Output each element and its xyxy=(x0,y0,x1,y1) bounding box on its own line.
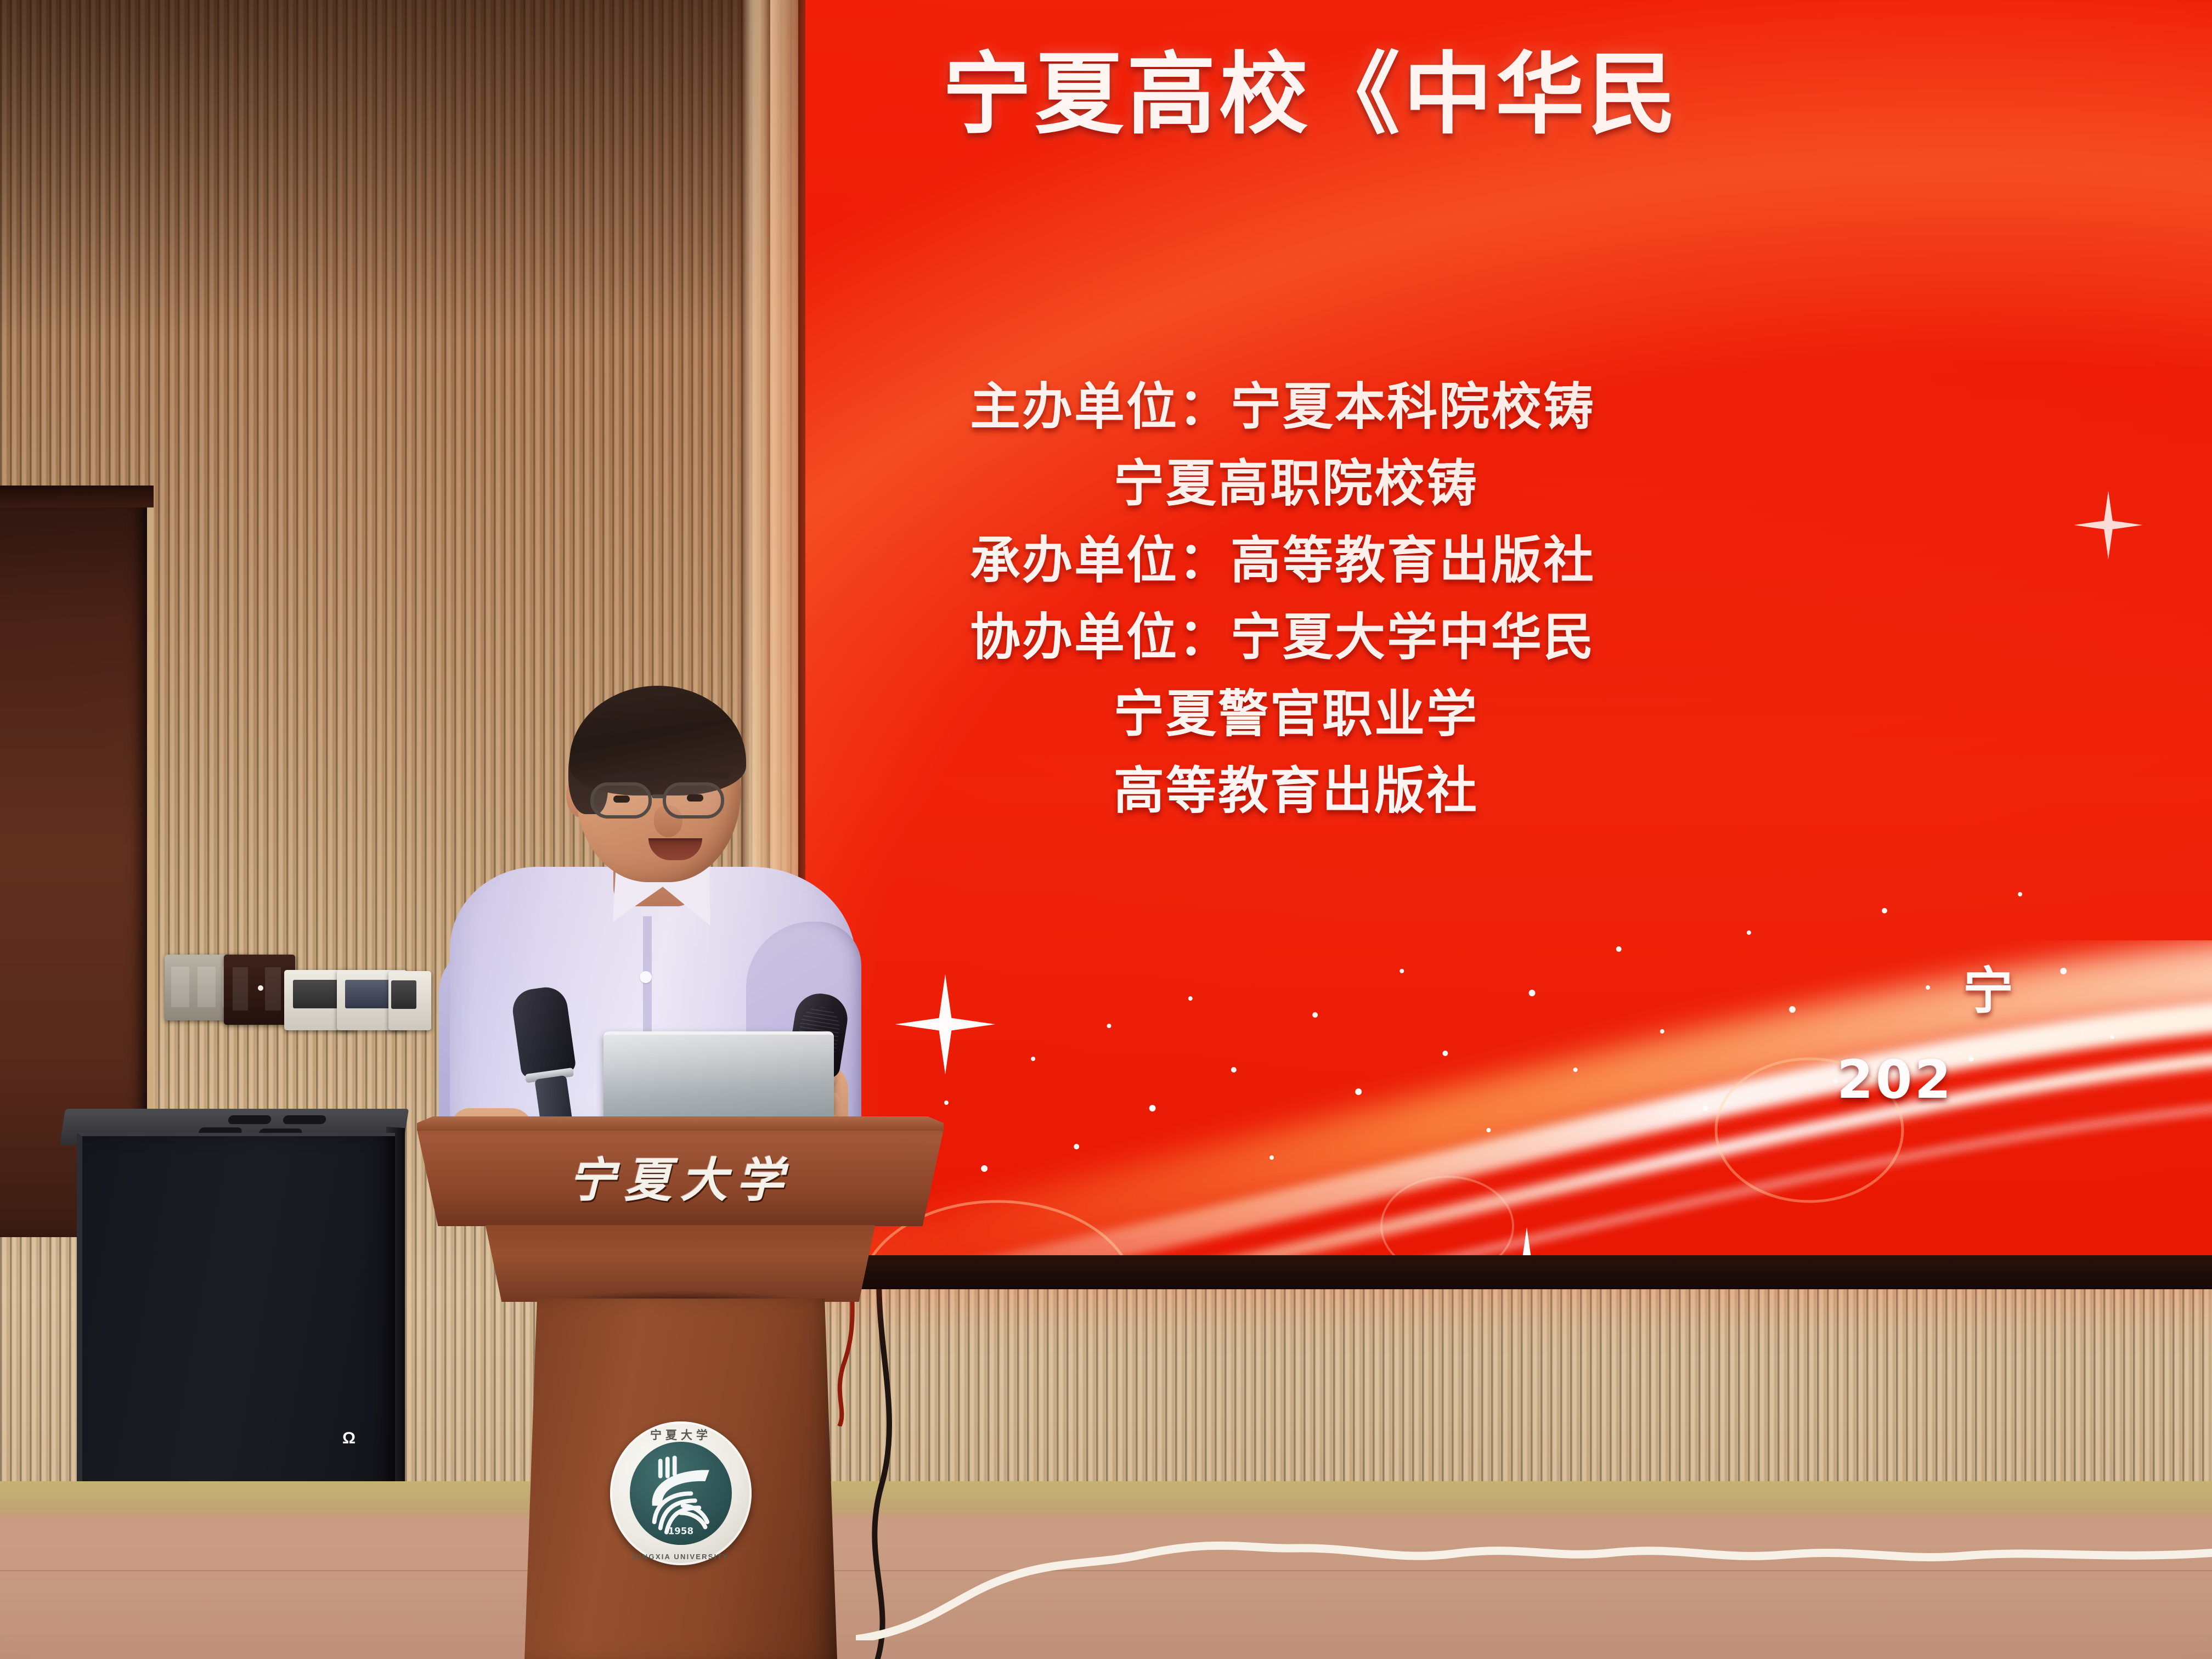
wall-outlet-plate-3[interactable] xyxy=(388,971,431,1030)
led-line-value: 高等教育出版社 xyxy=(1114,761,1479,820)
emblem-chinese-name: 宁夏大学 xyxy=(610,1426,752,1443)
star-burst-icon xyxy=(2073,489,2144,561)
led-line-value: 高等教育出版社 xyxy=(1231,531,1595,590)
lectern-podium: 宁夏大学 宁夏大学 1958 xyxy=(417,1116,944,1659)
emblem-calligraphy-mark: 1958 xyxy=(630,1442,732,1545)
podium-university-name: 宁夏大学 xyxy=(417,1142,944,1210)
eyeglasses xyxy=(590,782,733,822)
laptop-lid xyxy=(603,1031,834,1125)
led-line-cohost-3: 高等教育出版社 xyxy=(970,753,1595,830)
emblem-disc: 1958 xyxy=(630,1442,732,1545)
led-screen: 宁夏高校《中华民 主办单位：宁夏本科院校铸 宁夏高职院校铸 承办单位：高等教育出… xyxy=(805,0,2212,1278)
led-line-cohost-2: 宁夏警官职业学 xyxy=(970,676,1595,753)
led-line-host: 承办单位：高等教育出版社 xyxy=(970,522,1595,599)
speaker-brand-logo: Ω xyxy=(339,1429,359,1449)
led-line-label: 承办单位： xyxy=(970,531,1231,590)
led-line-value: 宁夏大学中华民 xyxy=(1231,608,1595,667)
laptop-computer[interactable] xyxy=(603,1031,834,1125)
emblem-english-name: NINGXIA UNIVERSITY xyxy=(610,1553,752,1561)
led-screen-bezel xyxy=(805,1255,2212,1289)
desk-microphone-head xyxy=(510,985,577,1079)
ningxia-university-emblem: 宁夏大学 1958 NINGXIA UNIVERSITY xyxy=(610,1421,752,1565)
led-screen-body: 主办单位：宁夏本科院校铸 宁夏高职院校铸 承办单位：高等教育出版社 协办单位：宁… xyxy=(970,369,1595,830)
led-signature-line: 宁 xyxy=(1963,950,2013,1023)
led-line-value: 宁夏警官职业学 xyxy=(1114,685,1479,743)
podium-neck xyxy=(477,1225,883,1302)
led-line-organizer-2: 宁夏高职院校铸 xyxy=(970,445,1595,522)
led-line-label: 主办单位： xyxy=(970,377,1231,436)
led-line-value: 宁夏本科院校铸 xyxy=(1231,377,1595,436)
photo-canvas: Ω xyxy=(0,0,2212,1659)
led-date-line: 202 xyxy=(1837,1049,1953,1110)
svg-text:1958: 1958 xyxy=(668,1525,694,1536)
floor-baseboard xyxy=(0,1481,2212,1516)
podium-top-lip xyxy=(417,1116,944,1131)
star-burst-icon xyxy=(893,972,997,1076)
led-line-value: 宁夏高职院校铸 xyxy=(1114,454,1479,513)
hair xyxy=(569,686,746,795)
led-line-cohost: 协办单位：宁夏大学中华民 xyxy=(970,599,1595,676)
led-screen-title: 宁夏高校《中华民 xyxy=(943,22,1680,151)
led-line-organizer: 主办单位：宁夏本科院校铸 xyxy=(970,369,1595,445)
door-header-reveal xyxy=(0,486,154,507)
led-line-label: 协办单位： xyxy=(970,608,1231,667)
